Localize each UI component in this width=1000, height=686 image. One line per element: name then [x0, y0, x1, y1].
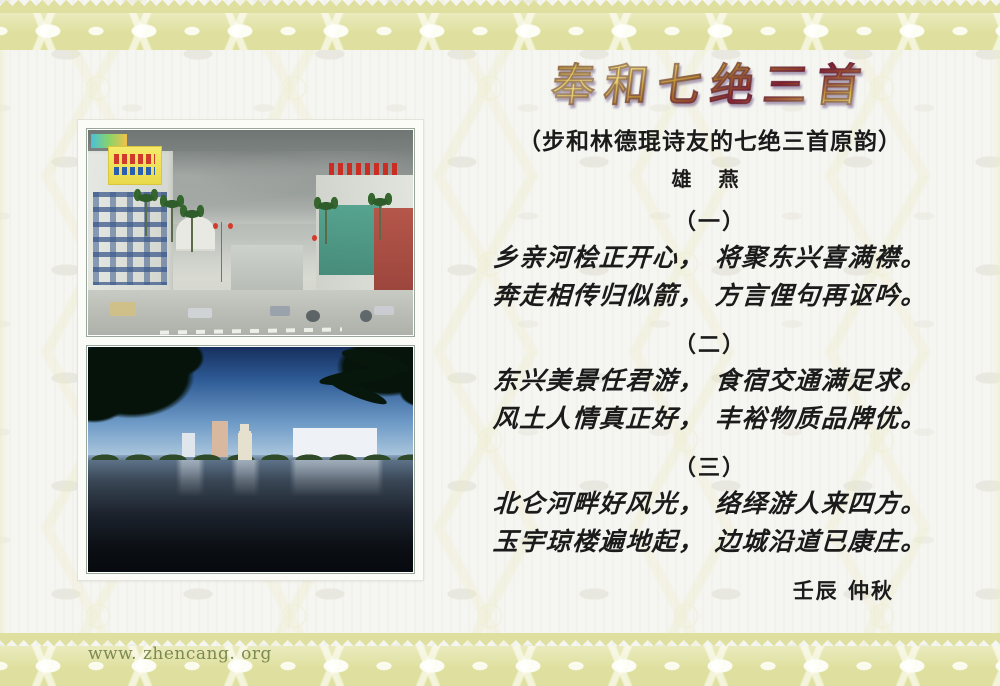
red-sign-text: [329, 163, 401, 175]
stanza-line: 风土人情真正好， 丰裕物质品牌优。: [439, 400, 981, 438]
stanza-one: （一） 乡亲河桧正开心， 将聚东兴喜满襟。 奔走相传归似箭， 方言俚句再讴吟。: [440, 204, 980, 315]
tree-canopy-left: [88, 347, 231, 437]
poster-page: 奉和七绝三首 （步和林德琨诗友的七绝三首原韵） 雄 燕 （一） 乡亲河桧正开心，…: [0, 0, 1000, 686]
lake-scene-photo[interactable]: [87, 346, 414, 573]
distant-buildings: [231, 245, 303, 290]
stanza-number: （一）: [440, 204, 980, 236]
cyclist: [360, 310, 372, 322]
top-border-zigzag: [0, 0, 1000, 13]
stanza-line: 玉宇琼楼遍地起， 边城沿道已康庄。: [439, 523, 981, 561]
red-lantern: [228, 223, 233, 229]
stanza-line: 东兴美景任君游， 食宿交通满足求。: [439, 362, 981, 400]
poem-signature: 壬辰 仲秋: [440, 575, 980, 605]
parked-car: [188, 308, 212, 318]
photo-stack: [78, 120, 423, 580]
street-lamp: [221, 222, 222, 282]
stanza-number: （三）: [440, 450, 980, 482]
stanza-two: （二） 东兴美景任君游， 食宿交通满足求。 风土人情真正好， 丰裕物质品牌优。: [440, 327, 980, 438]
poem-subtitle: （步和林德琨诗友的七绝三首原韵）: [440, 122, 980, 156]
right-edge-strip: [992, 50, 1000, 634]
stanza-line: 北仑河畔好风光， 络绎游人来四方。: [439, 485, 981, 523]
stanza-line: 乡亲河桧正开心， 将聚东兴喜满襟。: [439, 239, 981, 277]
poem-author: 雄 燕: [440, 163, 980, 192]
site-url-text[interactable]: www. zhencang. org: [88, 644, 272, 664]
street-scene-photo[interactable]: [87, 129, 414, 336]
red-lantern: [312, 235, 317, 241]
top-border-fill: [0, 12, 1000, 50]
moving-car: [374, 306, 394, 315]
water-reflection: [88, 460, 413, 510]
cyclist: [306, 310, 320, 322]
red-lantern: [213, 223, 218, 229]
yellow-billboard: [108, 146, 162, 185]
street-scene-image: [88, 130, 413, 335]
left-edge-strip: [0, 50, 8, 634]
turtle-tower: [238, 433, 253, 462]
parked-truck: [110, 302, 136, 316]
lake-scene-image: [88, 347, 413, 572]
stanza-line: 奔走相传归似箭， 方言俚句再讴吟。: [439, 277, 981, 315]
poem-column: 奉和七绝三首 （步和林德琨诗友的七绝三首原韵） 雄 燕 （一） 乡亲河桧正开心，…: [440, 62, 980, 605]
stanza-three: （三） 北仑河畔好风光， 络绎游人来四方。 玉宇琼楼遍地起， 边城沿道已康庄。: [440, 450, 980, 561]
stanza-number: （二）: [440, 327, 980, 359]
moving-car: [270, 306, 290, 316]
top-ornamental-border: [0, 0, 1000, 50]
page-title: 奉和七绝三首: [437, 62, 984, 116]
